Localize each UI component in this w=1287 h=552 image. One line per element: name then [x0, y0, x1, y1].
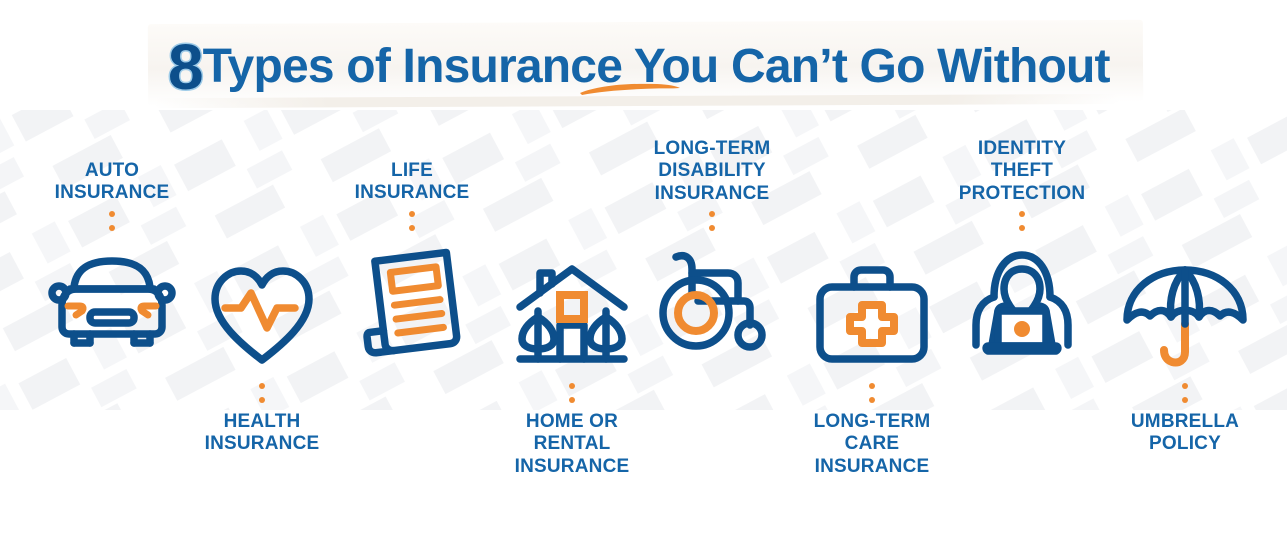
connector-dots — [612, 205, 812, 241]
connector-dots — [1085, 375, 1285, 411]
item-umbrella-policy[interactable]: UMBRELLA POLICY — [1085, 255, 1285, 456]
label-identity-theft-protection: IDENTITY THEFT PROTECTION — [922, 138, 1122, 205]
label-long-term-care-insurance: LONG-TERM CARE INSURANCE — [772, 411, 972, 478]
label-umbrella-policy: UMBRELLA POLICY — [1085, 411, 1285, 456]
connector-dots — [472, 375, 672, 411]
title-part-2: Go Without — [847, 40, 1110, 93]
heart-pulse-icon — [162, 255, 362, 375]
orange-brush-underline-icon — [579, 82, 681, 96]
title-numeral: 8 — [168, 35, 203, 99]
label-home-or-rental-insurance: HOME OR RENTAL INSURANCE — [472, 411, 672, 478]
item-home-or-rental-insurance[interactable]: HOME OR RENTAL INSURANCE — [472, 255, 672, 478]
first-aid-kit-icon — [772, 255, 972, 375]
infographic-canvas: 8 Types of Insurance You Can’t Go Withou… — [0, 0, 1287, 552]
connector-dots — [772, 375, 972, 411]
connector-dots — [12, 205, 212, 241]
title-emphasis: Can’t — [731, 40, 847, 93]
connector-dots — [312, 205, 512, 241]
label-auto-insurance: AUTO INSURANCE — [12, 160, 212, 205]
label-life-insurance: LIFE INSURANCE — [312, 160, 512, 205]
item-health-insurance[interactable]: HEALTH INSURANCE — [162, 255, 362, 456]
house-icon — [472, 255, 672, 375]
connector-dots — [922, 205, 1122, 241]
connector-dots — [162, 375, 362, 411]
label-long-term-disability-insurance: LONG-TERM DISABILITY INSURANCE — [612, 138, 812, 205]
item-long-term-care-insurance[interactable]: LONG-TERM CARE INSURANCE — [772, 255, 972, 478]
label-health-insurance: HEALTH INSURANCE — [162, 411, 362, 456]
umbrella-icon — [1085, 255, 1285, 375]
